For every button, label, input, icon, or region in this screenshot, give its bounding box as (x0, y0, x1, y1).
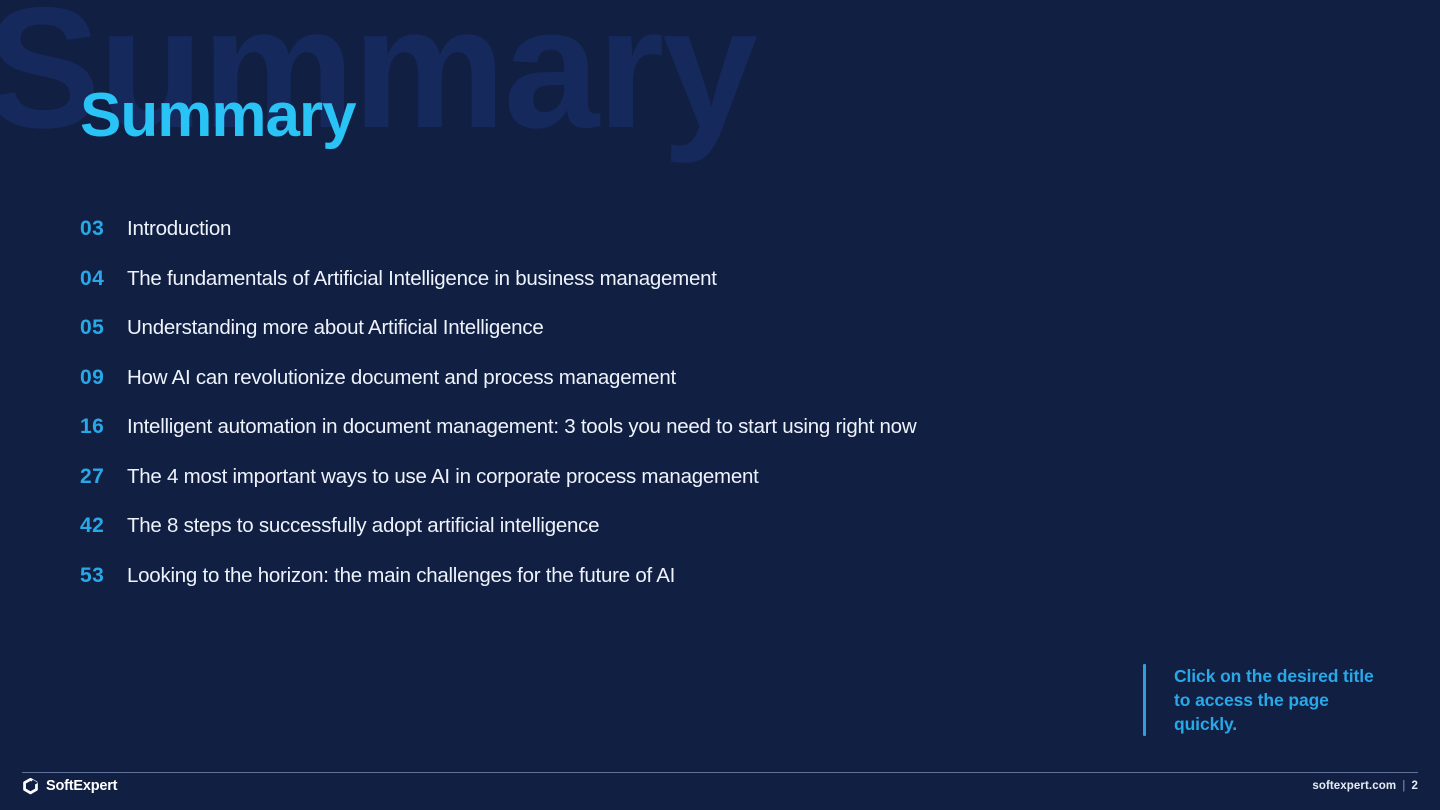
toc-page-number: 42 (80, 515, 127, 536)
toc-entry[interactable]: 42 The 8 steps to successfully adopt art… (80, 515, 1180, 565)
toc-entry-label: The fundamentals of Artificial Intellige… (127, 269, 717, 290)
footer-website[interactable]: softexpert.com (1312, 781, 1396, 793)
toc-page-number: 04 (80, 268, 127, 289)
hint-line-3: quickly. (1174, 712, 1374, 736)
toc-entry-label: Introduction (127, 219, 231, 240)
toc-entry[interactable]: 53 Looking to the horizon: the main chal… (80, 565, 1180, 615)
toc-page-number: 27 (80, 466, 127, 487)
toc-entry-label: Understanding more about Artificial Inte… (127, 318, 543, 339)
brand-logo[interactable]: SoftExpert (22, 778, 117, 795)
hint-text: Click on the desired title to access the… (1174, 664, 1374, 736)
footer-meta: softexpert.com | 2 (1312, 781, 1418, 793)
toc-entry[interactable]: 27 The 4 most important ways to use AI i… (80, 466, 1180, 516)
footer: SoftExpert softexpert.com | 2 (0, 772, 1440, 810)
footer-page-number: 2 (1412, 781, 1419, 793)
page-title: Summary (80, 85, 356, 147)
toc-page-number: 03 (80, 218, 127, 239)
toc-entry-label: The 4 most important ways to use AI in c… (127, 467, 759, 488)
toc-entry[interactable]: 16 Intelligent automation in document ma… (80, 416, 1180, 466)
brand-name: SoftExpert (46, 779, 117, 794)
hint-line-2: to access the page (1174, 688, 1374, 712)
softexpert-hexagon-logo-icon (22, 778, 39, 795)
footer-separator: | (1402, 781, 1405, 793)
toc-page-number: 53 (80, 565, 127, 586)
table-of-contents: 03 Introduction 04 The fundamentals of A… (80, 218, 1180, 614)
slide-root: Summary Summary 03 Introduction 04 The f… (0, 0, 1440, 810)
toc-page-number: 05 (80, 317, 127, 338)
hint-callout: Click on the desired title to access the… (1143, 664, 1374, 736)
toc-page-number: 16 (80, 416, 127, 437)
toc-entry-label: Intelligent automation in document manag… (127, 417, 916, 438)
toc-entry[interactable]: 03 Introduction (80, 218, 1180, 268)
toc-entry-label: How AI can revolutionize document and pr… (127, 368, 676, 389)
hint-accent-bar (1143, 664, 1146, 736)
toc-entry[interactable]: 04 The fundamentals of Artificial Intell… (80, 268, 1180, 318)
toc-entry-label: Looking to the horizon: the main challen… (127, 566, 675, 587)
toc-entry[interactable]: 09 How AI can revolutionize document and… (80, 367, 1180, 417)
toc-page-number: 09 (80, 367, 127, 388)
hint-line-1: Click on the desired title (1174, 664, 1374, 688)
toc-entry-label: The 8 steps to successfully adopt artifi… (127, 516, 599, 537)
toc-entry[interactable]: 05 Understanding more about Artificial I… (80, 317, 1180, 367)
